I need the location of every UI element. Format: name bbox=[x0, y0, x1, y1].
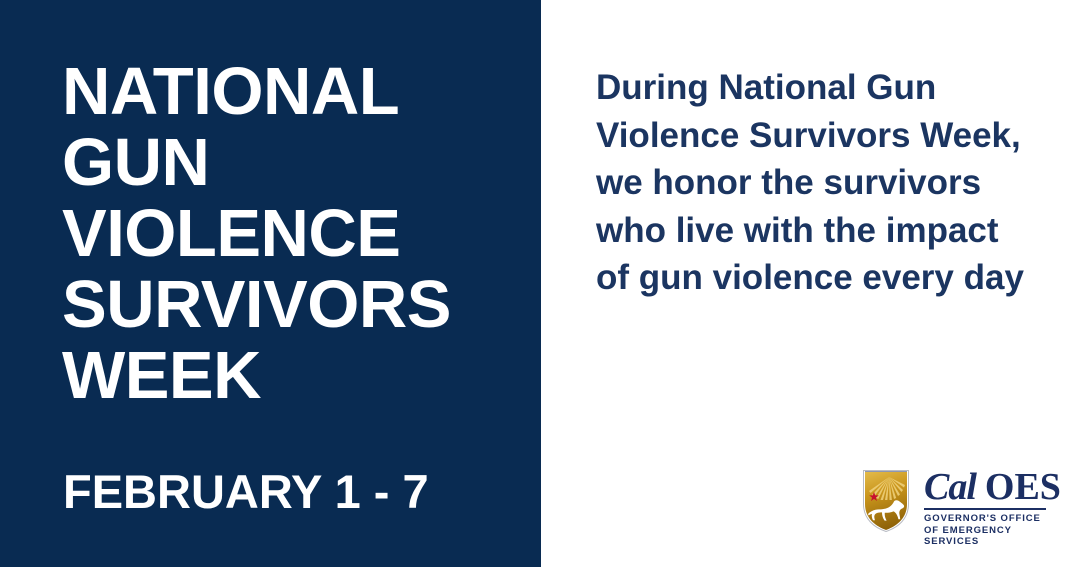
cal-oes-title-cal: Cal bbox=[924, 466, 976, 508]
date-range-label: FEBRUARY 1 - 7 bbox=[63, 466, 429, 518]
page-title: NATIONAL GUN VIOLENCE SURVIVORS WEEK bbox=[62, 56, 532, 411]
california-bear-shield-icon bbox=[862, 468, 910, 532]
body-copy-text: During National Gun Violence Survivors W… bbox=[596, 64, 1046, 302]
poster-canvas: NATIONAL GUN VIOLENCE SURVIVORS WEEK FEB… bbox=[0, 0, 1080, 567]
cal-oes-title-oes: OES bbox=[985, 466, 1061, 508]
cal-oes-title: Cal OES bbox=[924, 469, 1061, 505]
left-navy-panel: NATIONAL GUN VIOLENCE SURVIVORS WEEK FEB… bbox=[0, 0, 541, 567]
cal-oes-logo: Cal OES GOVERNOR'S OFFICE OF EMERGENCY S… bbox=[862, 468, 1048, 534]
right-white-panel: During National Gun Violence Survivors W… bbox=[541, 0, 1080, 567]
cal-oes-wordmark: Cal OES GOVERNOR'S OFFICE OF EMERGENCY S… bbox=[924, 468, 1061, 548]
shield-field bbox=[862, 468, 910, 532]
logo-divider-rule bbox=[924, 508, 1046, 510]
cal-oes-subtitle: GOVERNOR'S OFFICE OF EMERGENCY SERVICES bbox=[924, 513, 1061, 548]
